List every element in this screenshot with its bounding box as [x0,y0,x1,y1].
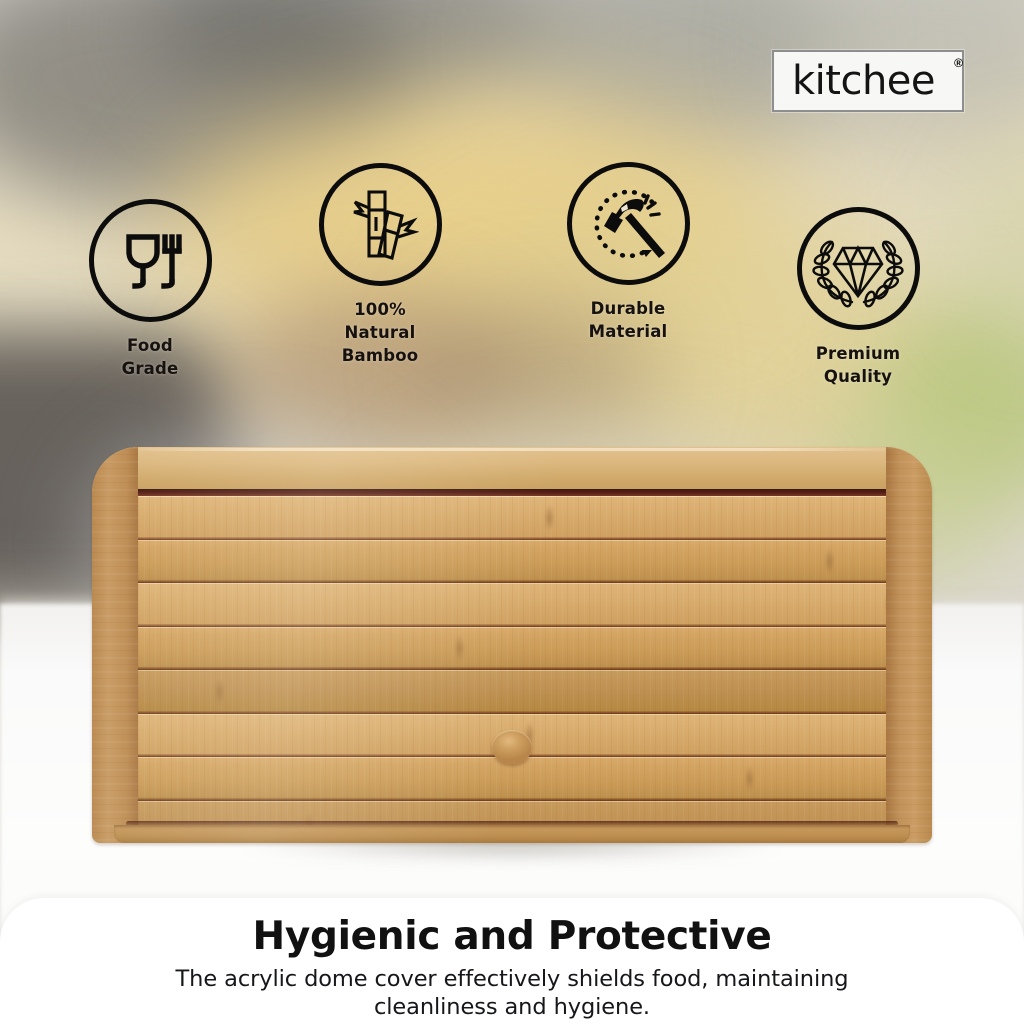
badge-caption-line: Grade [88,358,212,381]
side-rail-left [92,447,138,843]
badge-caption-line: 100% [318,299,442,322]
bread-box-base-board [114,825,910,843]
caption-panel: Hygienic and Protective The acrylic dome… [0,898,1024,1024]
badge-caption: 100% Natural Bamboo [318,299,442,367]
registered-trademark-icon: ® [954,56,963,70]
wine-glass-fork-icon [113,224,187,298]
product-image-bamboo-bread-box [92,447,932,852]
badge-caption-line: Durable [566,298,690,321]
badge-ring [797,207,920,330]
bamboo-stalks-icon [341,186,419,264]
feature-badge-premium-quality: Premium Quality [796,207,920,389]
badge-ring [89,199,212,322]
caption-subtext-line: cleanliness and hygiene. [0,994,1024,1022]
feature-badge-natural-bamboo: 100% Natural Bamboo [318,163,442,367]
lid-seam-groove [132,489,892,496]
brand-logo: kitchee ® [772,50,964,112]
product-marketing-image: kitchee ® [0,0,1024,1024]
badge-caption-line: Material [566,321,690,344]
badge-caption-line: Premium [796,343,920,366]
feature-badge-durable-material: Durable Material [566,162,690,344]
badge-caption-line: Food [88,335,212,358]
rolltop-slats [122,496,902,829]
badge-ring [567,162,690,285]
caption-subtext-line: The acrylic dome cover effectively shiel… [0,966,1024,994]
badge-caption: Durable Material [566,298,690,344]
bread-box-body [92,447,932,843]
caption-subtext: The acrylic dome cover effectively shiel… [0,966,1024,1022]
badge-caption-line: Natural [318,322,442,345]
bread-box-lid-top [92,447,932,491]
feature-badge-food-grade: Food Grade [88,199,212,381]
diamond-laurel-icon [812,226,904,312]
caption-headline: Hygienic and Protective [0,916,1024,958]
badge-caption: Premium Quality [796,343,920,389]
badge-caption-line: Quality [796,366,920,389]
drawer-knob[interactable] [492,730,532,764]
hammer-impact-icon [582,178,674,270]
side-rail-right [886,447,932,843]
badge-caption: Food Grade [88,335,212,381]
badge-ring [319,163,442,286]
badge-caption-line: Bamboo [318,345,442,368]
brand-logo-text: kitchee [792,61,944,101]
